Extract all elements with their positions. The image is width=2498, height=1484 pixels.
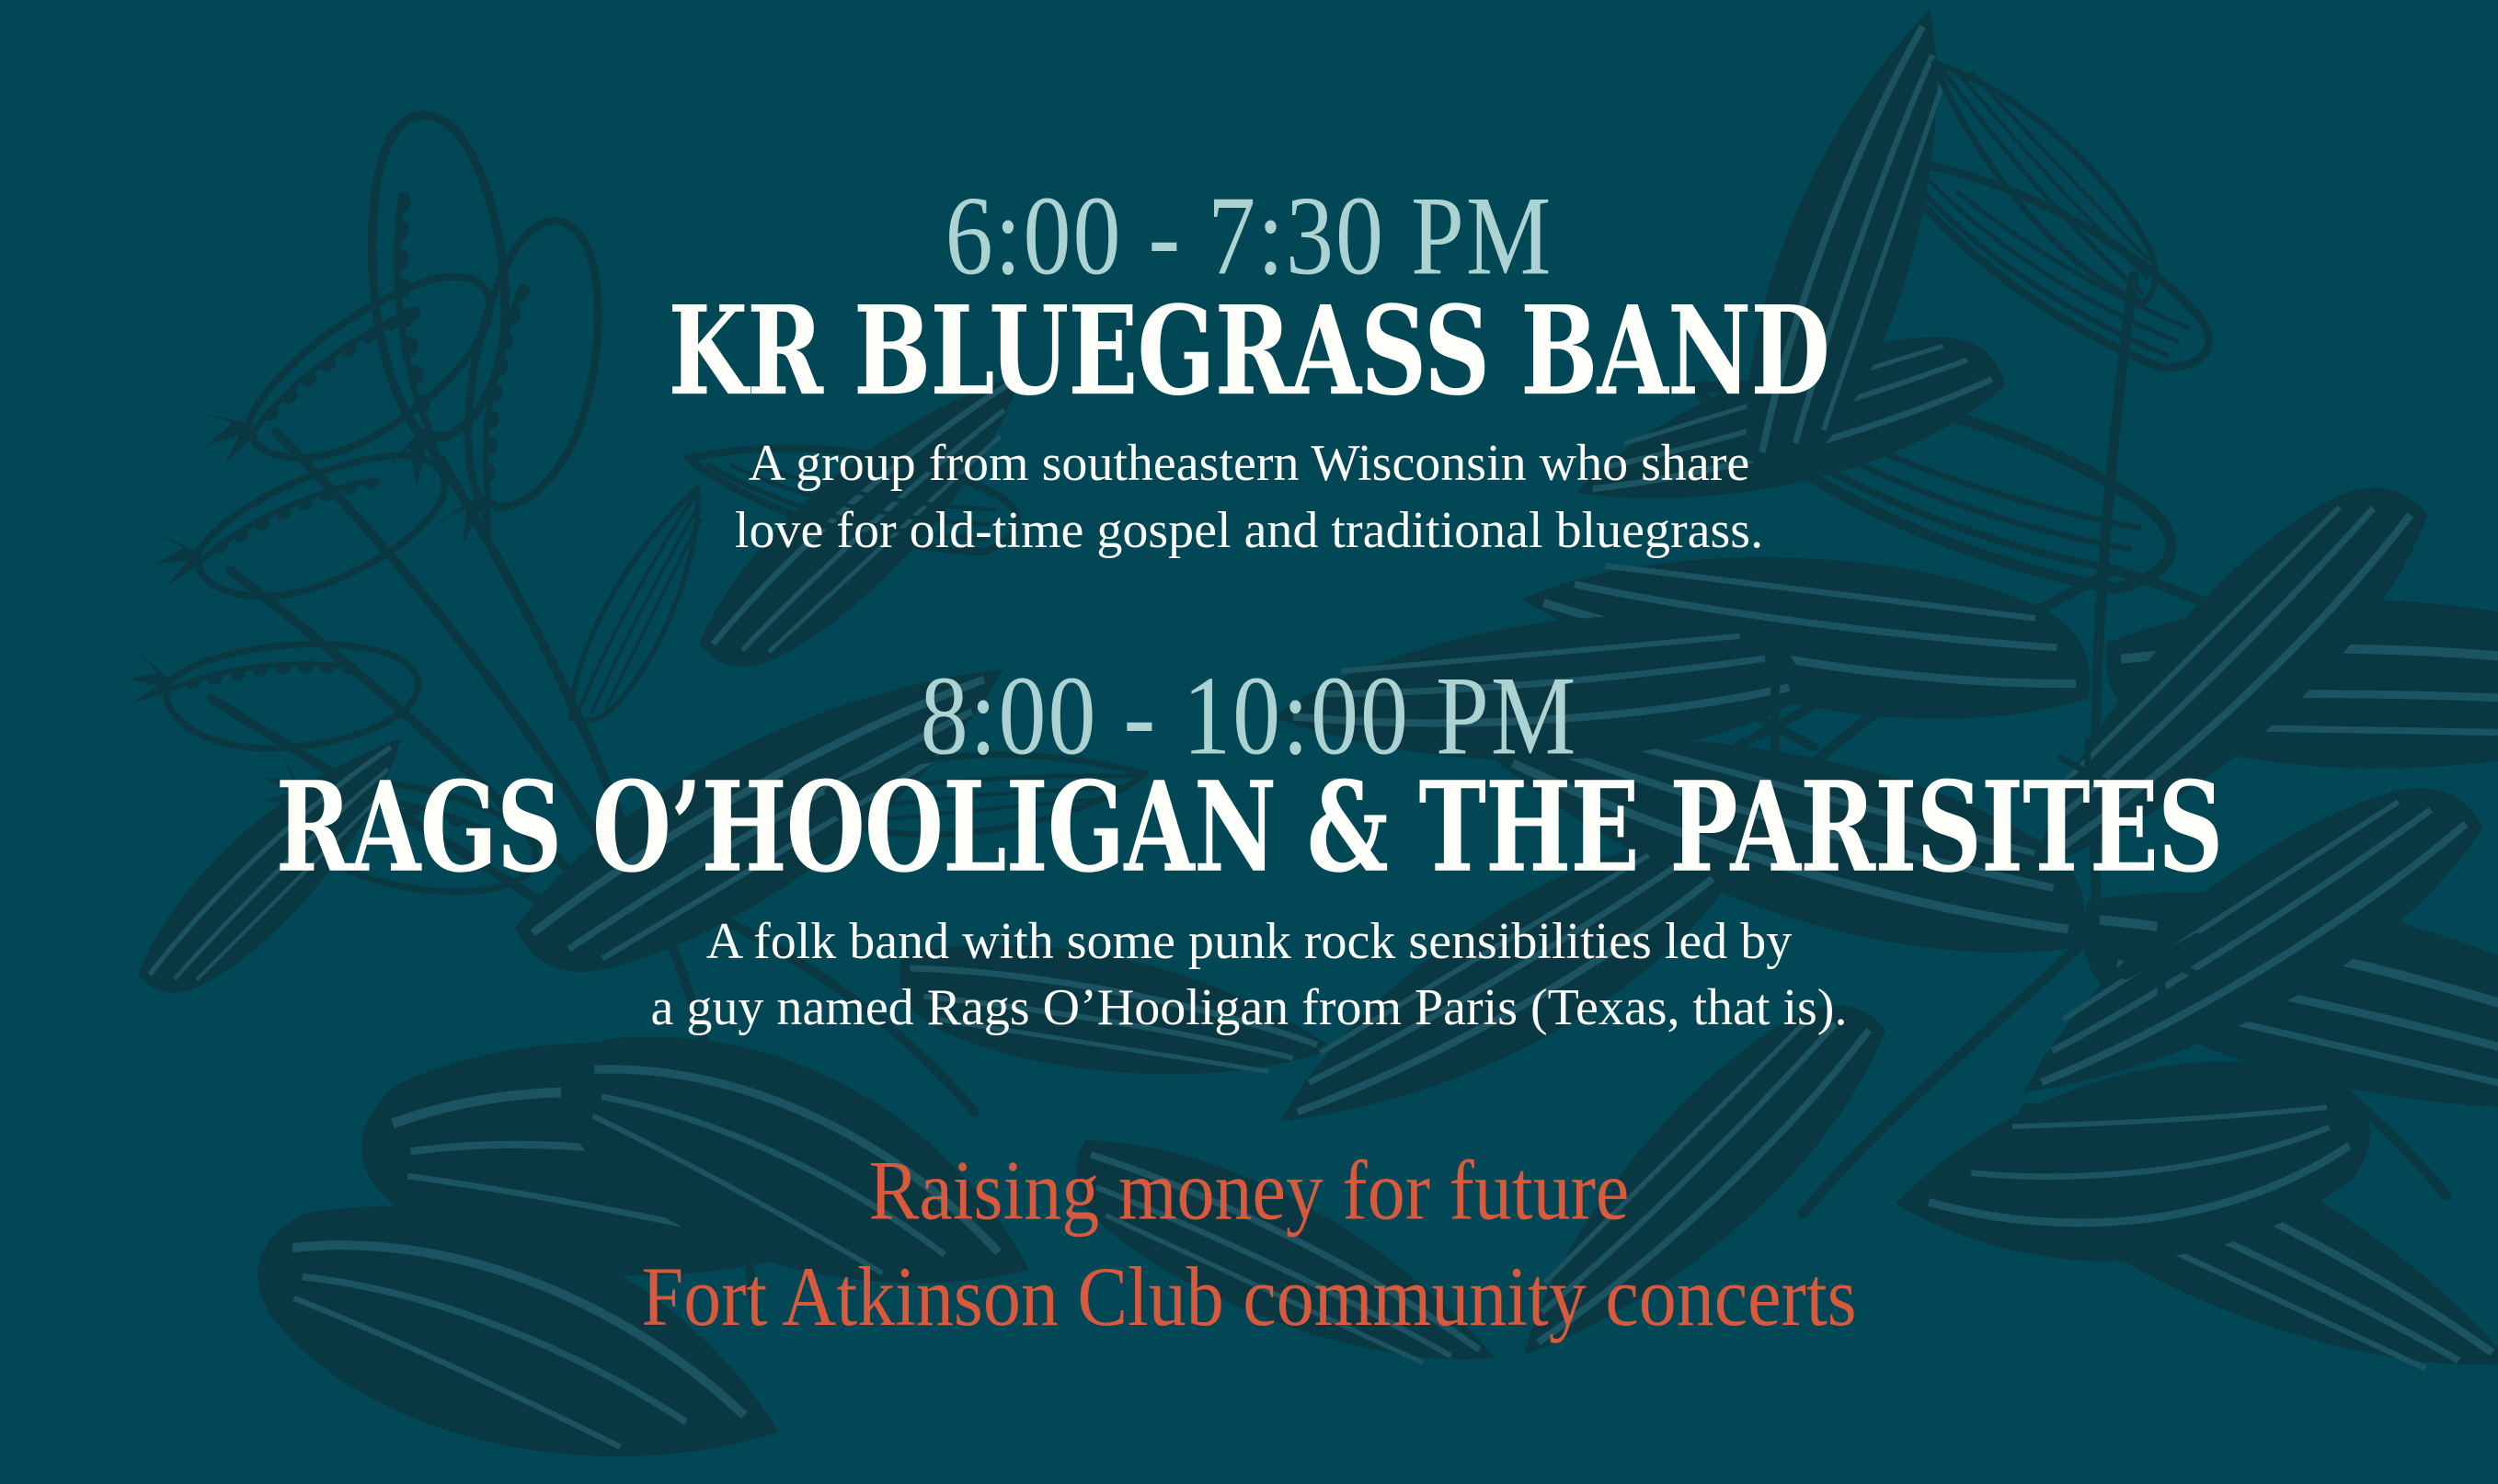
set-one-description-line-2: love for old-time gospel and traditional… (735, 497, 1763, 565)
set-one-description-line-1: A group from southeastern Wisconsin who … (735, 430, 1763, 497)
set-two-description-line-2: a guy named Rags O’Hooligan from Paris (… (651, 975, 1848, 1042)
set-two-description: A folk band with some punk rock sensibil… (651, 908, 1848, 1043)
fundraising-message: Raising money for future Fort Atkinson C… (641, 1137, 1856, 1350)
set-one-time: 6:00 - 7:30 PM (945, 180, 1553, 293)
fundraising-line-1: Raising money for future (641, 1137, 1856, 1244)
poster-content: 6:00 - 7:30 PM KR BLUEGRASS BAND A group… (0, 0, 2498, 1484)
poster-canvas: 6:00 - 7:30 PM KR BLUEGRASS BAND A group… (0, 0, 2498, 1484)
set-two-description-line-1: A folk band with some punk rock sensibil… (651, 908, 1848, 976)
set-two-band-name: RAGS O’HOOLIGAN & THE PARISITES (276, 765, 2223, 889)
set-one-description: A group from southeastern Wisconsin who … (735, 430, 1763, 565)
set-one-band-name: KR BLUEGRASS BAND (669, 290, 1830, 412)
fundraising-line-2: Fort Atkinson Club community concerts (641, 1244, 1856, 1351)
